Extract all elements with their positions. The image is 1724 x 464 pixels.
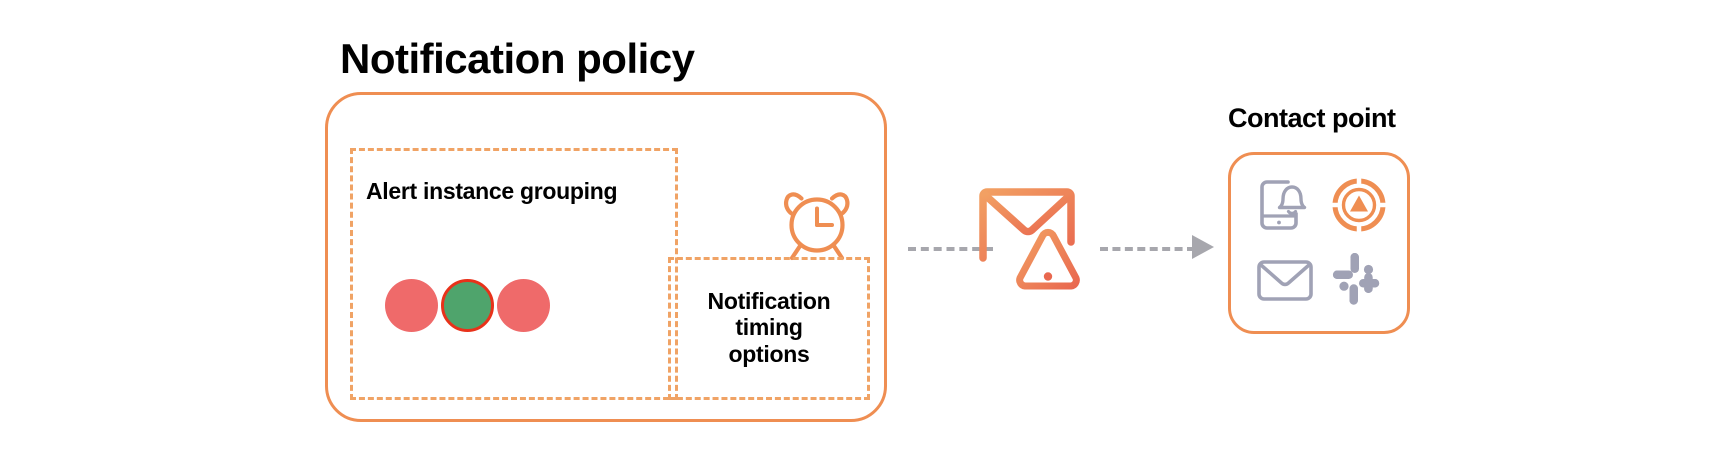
- timing-label-line-3: options: [672, 341, 866, 367]
- alert-instance-dot: [441, 279, 494, 332]
- alert-instance-dot: [497, 279, 550, 332]
- contact-point-title: Contact point: [1228, 103, 1395, 134]
- alert-instance-group: [385, 275, 560, 335]
- channel-slack: [1330, 250, 1388, 313]
- contact-point-channel-list: [1248, 170, 1396, 318]
- connector-arrow-icon: [1192, 235, 1214, 259]
- notification-timing-options-label: Notification timing options: [672, 288, 866, 367]
- diagram-canvas: Notification policy Alert instance group…: [0, 0, 1724, 464]
- timing-label-line-1: Notification: [672, 288, 866, 314]
- connector-dashed-right: [1100, 247, 1195, 251]
- envelope-alert-icon: [975, 180, 1085, 295]
- alert-instance-dot: [385, 279, 438, 332]
- timing-label-line-2: timing: [672, 314, 866, 340]
- slack-icon: [1330, 250, 1388, 313]
- channel-email: [1254, 254, 1316, 309]
- notification-policy-title: Notification policy: [340, 35, 695, 83]
- alarm-clock-icon: [778, 182, 856, 269]
- channel-mobile-push: [1254, 174, 1316, 241]
- channel-opsgenie: [1331, 177, 1387, 238]
- envelope-icon: [1254, 254, 1316, 309]
- opsgenie-icon: [1331, 177, 1387, 238]
- alert-instance-grouping-label: Alert instance grouping: [366, 178, 617, 205]
- phone-bell-icon: [1254, 174, 1316, 241]
